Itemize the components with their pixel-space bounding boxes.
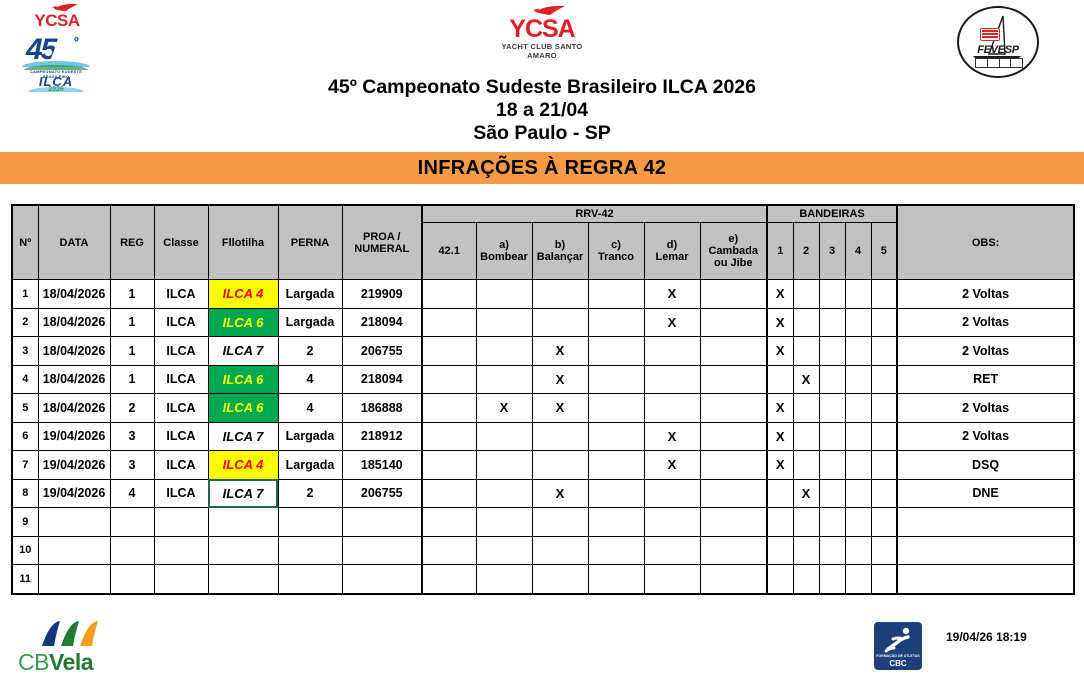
cell-rrv-tranco[interactable] bbox=[588, 280, 644, 309]
cell-rrv-tranco[interactable] bbox=[588, 365, 644, 394]
col-header-cambada-line2: Cambada bbox=[701, 245, 767, 257]
cell-rrv-lemar[interactable]: X bbox=[644, 422, 700, 451]
cell-rrv-42-1[interactable] bbox=[422, 365, 476, 394]
table-row[interactable]: 118/04/20261ILCAILCA 4Largada219909XX2 V… bbox=[12, 280, 1074, 309]
cell-bandeira-5[interactable] bbox=[871, 479, 897, 508]
cell-reg[interactable]: 2 bbox=[110, 394, 154, 423]
footer: CBVela FORMAÇÃO DE ATLETAS CBC 19/04/26 … bbox=[0, 612, 1084, 686]
cell-flotilha[interactable] bbox=[208, 536, 278, 565]
cell-bandeira-1[interactable]: X bbox=[767, 451, 793, 480]
cell-rrv-bombear[interactable] bbox=[476, 308, 532, 337]
cell-bandeira-1[interactable] bbox=[767, 365, 793, 394]
col-header-cambada-line1: e) bbox=[701, 233, 767, 245]
cell-rrv-cambada-jibe[interactable] bbox=[700, 536, 767, 565]
cell-reg[interactable]: 1 bbox=[110, 280, 154, 309]
cell-bandeira-5[interactable] bbox=[871, 565, 897, 594]
cell-rrv-bombear[interactable] bbox=[476, 508, 532, 537]
table-row[interactable]: 518/04/20262ILCAILCA 64186888XXX2 Voltas bbox=[12, 394, 1074, 423]
cell-bandeira-4[interactable] bbox=[845, 536, 871, 565]
cell-rrv-tranco[interactable] bbox=[588, 536, 644, 565]
cell-obs[interactable]: 2 Voltas bbox=[897, 337, 1074, 366]
cell-perna[interactable]: Largada bbox=[278, 280, 342, 309]
cell-data[interactable]: 18/04/2026 bbox=[38, 365, 110, 394]
table-row[interactable]: 218/04/20261ILCAILCA 6Largada218094XX2 V… bbox=[12, 308, 1074, 337]
cell-flotilha[interactable]: ILCA 4 bbox=[208, 280, 278, 309]
cell-rrv-balancar[interactable]: X bbox=[532, 365, 588, 394]
cell-rrv-lemar[interactable]: X bbox=[644, 280, 700, 309]
event-title-line-1: 45º Campeonato Sudeste Brasileiro ILCA 2… bbox=[0, 76, 1084, 99]
cell-obs[interactable] bbox=[897, 508, 1074, 537]
generated-timestamp: 19/04/26 18:19 bbox=[946, 630, 1027, 644]
table-row[interactable]: 719/04/20263ILCAILCA 4Largada185140XXDSQ bbox=[12, 451, 1074, 480]
cell-rrv-cambada-jibe[interactable] bbox=[700, 337, 767, 366]
table-row[interactable]: 418/04/20261ILCAILCA 64218094XXRET bbox=[12, 365, 1074, 394]
col-header-bandeira-5: 5 bbox=[871, 223, 897, 280]
cell-numero[interactable]: 2 bbox=[12, 308, 38, 337]
cell-bandeira-4[interactable] bbox=[845, 308, 871, 337]
col-header-balancar-line1: b) bbox=[533, 239, 588, 251]
cell-bandeira-2[interactable] bbox=[793, 337, 819, 366]
col-header-bandeira-1: 1 bbox=[767, 223, 793, 280]
cell-bandeira-2[interactable] bbox=[793, 308, 819, 337]
group-header-bandeiras: BANDEIRAS bbox=[767, 205, 897, 223]
cell-rrv-42-1[interactable] bbox=[422, 479, 476, 508]
event-title-block: 45º Campeonato Sudeste Brasileiro ILCA 2… bbox=[0, 76, 1084, 145]
cell-rrv-tranco[interactable] bbox=[588, 308, 644, 337]
cell-bandeira-4[interactable] bbox=[845, 451, 871, 480]
cell-flotilha[interactable]: ILCA 6 bbox=[208, 365, 278, 394]
col-header-reg: REG bbox=[110, 205, 154, 280]
event-title-line-2: 18 a 21/04 bbox=[0, 99, 1084, 122]
cell-bandeira-3[interactable] bbox=[819, 308, 845, 337]
table-row[interactable]: 9 bbox=[12, 508, 1074, 537]
table-row[interactable]: 11 bbox=[12, 565, 1074, 594]
cell-reg[interactable]: 1 bbox=[110, 308, 154, 337]
cell-bandeira-2[interactable] bbox=[793, 508, 819, 537]
cell-data[interactable]: 18/04/2026 bbox=[38, 308, 110, 337]
cell-rrv-tranco[interactable] bbox=[588, 337, 644, 366]
cell-bandeira-5[interactable] bbox=[871, 365, 897, 394]
cell-obs[interactable] bbox=[897, 536, 1074, 565]
cell-bandeira-1[interactable]: X bbox=[767, 394, 793, 423]
cell-flotilha[interactable]: ILCA 7 bbox=[208, 422, 278, 451]
cell-rrv-cambada-jibe[interactable] bbox=[700, 308, 767, 337]
col-header-cambada-line3: ou Jibe bbox=[701, 257, 767, 269]
cell-bandeira-4[interactable] bbox=[845, 422, 871, 451]
cell-obs[interactable]: DSQ bbox=[897, 451, 1074, 480]
cell-rrv-42-1[interactable] bbox=[422, 422, 476, 451]
cell-obs[interactable]: 2 Voltas bbox=[897, 308, 1074, 337]
cell-rrv-42-1[interactable] bbox=[422, 565, 476, 594]
cell-data[interactable]: 19/04/2026 bbox=[38, 451, 110, 480]
cell-rrv-tranco[interactable] bbox=[588, 565, 644, 594]
cell-flotilha[interactable]: ILCA 7 bbox=[208, 479, 278, 508]
col-header-balancar: b) Balançar bbox=[532, 223, 588, 280]
table-body: 118/04/20261ILCAILCA 4Largada219909XX2 V… bbox=[12, 280, 1074, 594]
cell-classe[interactable] bbox=[154, 565, 208, 594]
cell-perna[interactable]: Largada bbox=[278, 422, 342, 451]
cell-bandeira-3[interactable] bbox=[819, 565, 845, 594]
cell-flotilha[interactable] bbox=[208, 508, 278, 537]
cell-rrv-bombear[interactable]: X bbox=[476, 394, 532, 423]
col-header-balancar-line2: Balançar bbox=[533, 251, 588, 263]
ycsa-logo-center: YCSA YACHT CLUB SANTO AMARO bbox=[489, 2, 595, 57]
cell-rrv-42-1[interactable] bbox=[422, 337, 476, 366]
cell-data[interactable]: 18/04/2026 bbox=[38, 337, 110, 366]
cbvela-logo: CBVela bbox=[18, 620, 114, 678]
cell-bandeira-1[interactable] bbox=[767, 565, 793, 594]
cell-bandeira-3[interactable] bbox=[819, 422, 845, 451]
emblem-degree: º bbox=[74, 34, 79, 49]
col-header-perna: PERNA bbox=[278, 205, 342, 280]
cell-proa-numeral[interactable] bbox=[342, 508, 422, 537]
cell-obs[interactable]: DNE bbox=[897, 479, 1074, 508]
cell-rrv-tranco[interactable] bbox=[588, 451, 644, 480]
cell-numero[interactable]: 5 bbox=[12, 394, 38, 423]
cell-bandeira-3[interactable] bbox=[819, 479, 845, 508]
table-row[interactable]: 819/04/20264ILCAILCA 72206755XXDNE bbox=[12, 479, 1074, 508]
cbc-logo: FORMAÇÃO DE ATLETAS CBC bbox=[874, 622, 922, 670]
cell-rrv-lemar[interactable] bbox=[644, 365, 700, 394]
cell-bandeira-3[interactable] bbox=[819, 451, 845, 480]
cell-rrv-bombear[interactable] bbox=[476, 422, 532, 451]
cell-reg[interactable] bbox=[110, 536, 154, 565]
cell-perna[interactable] bbox=[278, 565, 342, 594]
cell-data[interactable] bbox=[38, 508, 110, 537]
table-head: Nº DATA REG Classe Fllotilha PERNA PROA … bbox=[12, 205, 1074, 280]
cell-rrv-bombear[interactable] bbox=[476, 451, 532, 480]
cell-rrv-balancar[interactable] bbox=[532, 536, 588, 565]
cell-bandeira-4[interactable] bbox=[845, 508, 871, 537]
cell-obs[interactable]: RET bbox=[897, 365, 1074, 394]
cell-proa-numeral[interactable]: 206755 bbox=[342, 479, 422, 508]
cell-bandeira-4[interactable] bbox=[845, 337, 871, 366]
cell-rrv-bombear[interactable] bbox=[476, 536, 532, 565]
cell-perna[interactable]: 4 bbox=[278, 365, 342, 394]
cell-rrv-42-1[interactable] bbox=[422, 536, 476, 565]
cell-rrv-bombear[interactable] bbox=[476, 280, 532, 309]
cell-classe[interactable] bbox=[154, 536, 208, 565]
cell-obs[interactable] bbox=[897, 565, 1074, 594]
cell-flotilha[interactable]: ILCA 7 bbox=[208, 337, 278, 366]
cell-perna[interactable]: Largada bbox=[278, 451, 342, 480]
header-logo-band: YCSA 45 º CAMPEONATO SUDESTE BRASILEIRO … bbox=[0, 0, 1084, 150]
cell-obs[interactable]: 2 Voltas bbox=[897, 280, 1074, 309]
cell-bandeira-1[interactable] bbox=[767, 536, 793, 565]
ycsa-logo-center-tagline: YACHT CLUB SANTO AMARO bbox=[489, 42, 595, 60]
cell-rrv-42-1[interactable] bbox=[422, 308, 476, 337]
cell-flotilha[interactable]: ILCA 4 bbox=[208, 451, 278, 480]
cell-reg[interactable]: 4 bbox=[110, 479, 154, 508]
cell-flotilha[interactable] bbox=[208, 565, 278, 594]
fevesp-signal-flags-icon bbox=[975, 58, 1023, 68]
infractions-table-wrap: Nº DATA REG Classe Fllotilha PERNA PROA … bbox=[11, 204, 1073, 595]
cell-proa-numeral[interactable] bbox=[342, 565, 422, 594]
cell-classe[interactable]: ILCA bbox=[154, 394, 208, 423]
cell-bandeira-1[interactable]: X bbox=[767, 280, 793, 309]
cell-classe[interactable]: ILCA bbox=[154, 280, 208, 309]
cell-reg[interactable]: 1 bbox=[110, 365, 154, 394]
cell-bandeira-4[interactable] bbox=[845, 394, 871, 423]
cbvela-logo-text: CBVela bbox=[18, 649, 118, 676]
table-row[interactable]: 10 bbox=[12, 536, 1074, 565]
cell-flotilha[interactable]: ILCA 6 bbox=[208, 308, 278, 337]
cell-classe[interactable]: ILCA bbox=[154, 337, 208, 366]
cell-rrv-balancar[interactable]: X bbox=[532, 337, 588, 366]
cell-bandeira-2[interactable] bbox=[793, 451, 819, 480]
cell-classe[interactable]: ILCA bbox=[154, 308, 208, 337]
cbc-caption: FORMAÇÃO DE ATLETAS bbox=[874, 654, 922, 658]
cell-bandeira-5[interactable] bbox=[871, 308, 897, 337]
cell-rrv-cambada-jibe[interactable] bbox=[700, 451, 767, 480]
cell-bandeira-2[interactable]: X bbox=[793, 479, 819, 508]
cell-numero[interactable]: 7 bbox=[12, 451, 38, 480]
table-row[interactable]: 619/04/20263ILCAILCA 7Largada218912XX2 V… bbox=[12, 422, 1074, 451]
cell-bandeira-1[interactable]: X bbox=[767, 308, 793, 337]
cell-rrv-lemar[interactable] bbox=[644, 479, 700, 508]
cell-classe[interactable]: ILCA bbox=[154, 479, 208, 508]
cell-classe[interactable]: ILCA bbox=[154, 422, 208, 451]
col-header-bombear-line2: Bombear bbox=[477, 251, 532, 263]
cell-perna[interactable]: 4 bbox=[278, 394, 342, 423]
cell-bandeira-4[interactable] bbox=[845, 479, 871, 508]
cell-perna[interactable]: Largada bbox=[278, 308, 342, 337]
cell-bandeira-2[interactable]: X bbox=[793, 365, 819, 394]
col-header-bandeira-2: 2 bbox=[793, 223, 819, 280]
cell-rrv-cambada-jibe[interactable] bbox=[700, 565, 767, 594]
cell-rrv-balancar[interactable] bbox=[532, 508, 588, 537]
cell-rrv-lemar[interactable] bbox=[644, 536, 700, 565]
cell-numero[interactable]: 8 bbox=[12, 479, 38, 508]
cbvela-vela: Vela bbox=[49, 649, 93, 675]
cell-rrv-lemar[interactable] bbox=[644, 337, 700, 366]
col-header-42-1: 42.1 bbox=[422, 223, 476, 280]
col-header-bombear: a) Bombear bbox=[476, 223, 532, 280]
ycsa-logo-center-text: YCSA bbox=[489, 15, 595, 44]
cell-obs[interactable]: 2 Voltas bbox=[897, 394, 1074, 423]
col-header-numero: Nº bbox=[12, 205, 38, 280]
cell-bandeira-5[interactable] bbox=[871, 508, 897, 537]
cell-perna[interactable]: 2 bbox=[278, 479, 342, 508]
cell-classe[interactable]: ILCA bbox=[154, 365, 208, 394]
cell-bandeira-2[interactable] bbox=[793, 394, 819, 423]
cell-rrv-bombear[interactable] bbox=[476, 365, 532, 394]
cell-rrv-bombear[interactable] bbox=[476, 337, 532, 366]
col-header-tranco: c) Tranco bbox=[588, 223, 644, 280]
cell-bandeira-4[interactable] bbox=[845, 565, 871, 594]
cell-rrv-balancar[interactable]: X bbox=[532, 479, 588, 508]
fevesp-flag-icon bbox=[980, 28, 1000, 41]
cell-bandeira-5[interactable] bbox=[871, 422, 897, 451]
col-header-obs: OBS: bbox=[897, 205, 1074, 280]
cell-reg[interactable] bbox=[110, 565, 154, 594]
cell-bandeira-5[interactable] bbox=[871, 280, 897, 309]
cell-data[interactable] bbox=[38, 565, 110, 594]
table-row[interactable]: 318/04/20261ILCAILCA 72206755XX2 Voltas bbox=[12, 337, 1074, 366]
col-header-proa-line2: NUMERAL bbox=[343, 243, 422, 255]
cell-proa-numeral[interactable]: 218912 bbox=[342, 422, 422, 451]
cell-proa-numeral[interactable]: 186888 bbox=[342, 394, 422, 423]
col-header-proa-numeral: PROA / NUMERAL bbox=[342, 205, 422, 280]
cell-numero[interactable]: 1 bbox=[12, 280, 38, 309]
col-header-lemar: d) Lemar bbox=[644, 223, 700, 280]
cell-reg[interactable]: 3 bbox=[110, 422, 154, 451]
cell-reg[interactable]: 1 bbox=[110, 337, 154, 366]
fevesp-logo: FEVESP bbox=[957, 6, 1039, 78]
cell-bandeira-2[interactable] bbox=[793, 536, 819, 565]
cell-proa-numeral[interactable]: 218094 bbox=[342, 365, 422, 394]
col-header-lemar-line2: Lemar bbox=[645, 251, 700, 263]
cell-rrv-42-1[interactable] bbox=[422, 508, 476, 537]
cell-rrv-balancar[interactable] bbox=[532, 280, 588, 309]
cell-proa-numeral[interactable] bbox=[342, 536, 422, 565]
cell-bandeira-2[interactable] bbox=[793, 565, 819, 594]
cell-data[interactable]: 18/04/2026 bbox=[38, 394, 110, 423]
cell-classe[interactable] bbox=[154, 508, 208, 537]
col-header-tranco-line2: Tranco bbox=[589, 251, 644, 263]
cell-bandeira-2[interactable] bbox=[793, 280, 819, 309]
cell-rrv-cambada-jibe[interactable] bbox=[700, 280, 767, 309]
cell-data[interactable]: 18/04/2026 bbox=[38, 280, 110, 309]
cell-bandeira-1[interactable]: X bbox=[767, 422, 793, 451]
cell-perna[interactable] bbox=[278, 536, 342, 565]
cell-obs[interactable]: 2 Voltas bbox=[897, 422, 1074, 451]
cell-bandeira-3[interactable] bbox=[819, 536, 845, 565]
cell-perna[interactable]: 2 bbox=[278, 337, 342, 366]
cell-rrv-cambada-jibe[interactable] bbox=[700, 479, 767, 508]
cell-numero[interactable]: 6 bbox=[12, 422, 38, 451]
col-header-classe: Classe bbox=[154, 205, 208, 280]
section-banner-text: INFRAÇÕES À REGRA 42 bbox=[418, 157, 667, 180]
col-header-proa-line1: PROA / bbox=[343, 231, 422, 243]
cell-numero[interactable]: 11 bbox=[12, 565, 38, 594]
cell-bandeira-1[interactable]: X bbox=[767, 337, 793, 366]
cell-numero[interactable]: 4 bbox=[12, 365, 38, 394]
cell-proa-numeral[interactable]: 185140 bbox=[342, 451, 422, 480]
cell-flotilha[interactable]: ILCA 6 bbox=[208, 394, 278, 423]
cell-rrv-lemar[interactable] bbox=[644, 565, 700, 594]
event-title-line-3: São Paulo - SP bbox=[0, 122, 1084, 145]
cbvela-cb: CB bbox=[18, 649, 49, 675]
group-header-rrv42: RRV-42 bbox=[422, 205, 767, 223]
cell-numero[interactable]: 10 bbox=[12, 536, 38, 565]
col-header-data: DATA bbox=[38, 205, 110, 280]
col-header-flotilha: Fllotilha bbox=[208, 205, 278, 280]
section-banner: INFRAÇÕES À REGRA 42 bbox=[0, 152, 1084, 184]
cell-rrv-42-1[interactable] bbox=[422, 394, 476, 423]
infractions-table: Nº DATA REG Classe Fllotilha PERNA PROA … bbox=[11, 204, 1075, 595]
cell-rrv-balancar[interactable]: X bbox=[532, 394, 588, 423]
ycsa-logo-topleft-text: YCSA bbox=[18, 11, 96, 31]
table-group-header-row: Nº DATA REG Classe Fllotilha PERNA PROA … bbox=[12, 205, 1074, 223]
cell-rrv-balancar[interactable] bbox=[532, 308, 588, 337]
cell-rrv-balancar[interactable] bbox=[532, 422, 588, 451]
fevesp-logo-text: FEVESP bbox=[959, 44, 1037, 56]
cell-bandeira-3[interactable] bbox=[819, 280, 845, 309]
col-header-lemar-line1: d) bbox=[645, 239, 700, 251]
col-header-bombear-line1: a) bbox=[477, 239, 532, 251]
cell-rrv-balancar[interactable] bbox=[532, 451, 588, 480]
cell-rrv-cambada-jibe[interactable] bbox=[700, 508, 767, 537]
cell-bandeira-5[interactable] bbox=[871, 536, 897, 565]
cell-rrv-cambada-jibe[interactable] bbox=[700, 365, 767, 394]
cell-bandeira-1[interactable] bbox=[767, 479, 793, 508]
cell-bandeira-4[interactable] bbox=[845, 280, 871, 309]
cell-classe[interactable]: ILCA bbox=[154, 451, 208, 480]
cell-numero[interactable]: 3 bbox=[12, 337, 38, 366]
cell-rrv-tranco[interactable] bbox=[588, 508, 644, 537]
cell-data[interactable] bbox=[38, 536, 110, 565]
col-header-tranco-line1: c) bbox=[589, 239, 644, 251]
cell-bandeira-3[interactable] bbox=[819, 508, 845, 537]
cell-rrv-tranco[interactable] bbox=[588, 394, 644, 423]
cell-proa-numeral[interactable]: 219909 bbox=[342, 280, 422, 309]
cell-rrv-42-1[interactable] bbox=[422, 280, 476, 309]
cell-rrv-bombear[interactable] bbox=[476, 565, 532, 594]
cell-proa-numeral[interactable]: 206755 bbox=[342, 337, 422, 366]
cell-reg[interactable]: 3 bbox=[110, 451, 154, 480]
cell-bandeira-5[interactable] bbox=[871, 337, 897, 366]
cell-data[interactable]: 19/04/2026 bbox=[38, 422, 110, 451]
col-header-cambada-jibe: e) Cambada ou Jibe bbox=[700, 223, 767, 280]
cbvela-sails-icon bbox=[40, 620, 102, 648]
cell-bandeira-2[interactable] bbox=[793, 422, 819, 451]
cell-bandeira-3[interactable] bbox=[819, 394, 845, 423]
cell-rrv-lemar[interactable]: X bbox=[644, 308, 700, 337]
cell-proa-numeral[interactable]: 218094 bbox=[342, 308, 422, 337]
cell-data[interactable]: 19/04/2026 bbox=[38, 479, 110, 508]
cell-reg[interactable] bbox=[110, 508, 154, 537]
cell-rrv-42-1[interactable] bbox=[422, 451, 476, 480]
emblem-sail-icon bbox=[50, 35, 60, 61]
cell-rrv-cambada-jibe[interactable] bbox=[700, 394, 767, 423]
cbc-acronym: CBC bbox=[874, 659, 922, 668]
cell-rrv-tranco[interactable] bbox=[588, 479, 644, 508]
ycsa-logo-topleft: YCSA bbox=[18, 2, 96, 32]
cell-bandeira-5[interactable] bbox=[871, 451, 897, 480]
cell-perna[interactable] bbox=[278, 508, 342, 537]
cell-bandeira-4[interactable] bbox=[845, 365, 871, 394]
cell-bandeira-5[interactable] bbox=[871, 394, 897, 423]
cell-bandeira-3[interactable] bbox=[819, 337, 845, 366]
col-header-bandeira-3: 3 bbox=[819, 223, 845, 280]
cell-rrv-bombear[interactable] bbox=[476, 479, 532, 508]
cell-rrv-tranco[interactable] bbox=[588, 422, 644, 451]
cell-rrv-balancar[interactable] bbox=[532, 565, 588, 594]
cell-rrv-lemar[interactable]: X bbox=[644, 451, 700, 480]
cell-bandeira-3[interactable] bbox=[819, 365, 845, 394]
cell-rrv-lemar[interactable] bbox=[644, 508, 700, 537]
col-header-bandeira-4: 4 bbox=[845, 223, 871, 280]
cell-bandeira-1[interactable] bbox=[767, 508, 793, 537]
cell-rrv-cambada-jibe[interactable] bbox=[700, 422, 767, 451]
cbc-athlete-icon bbox=[882, 627, 914, 653]
cell-rrv-lemar[interactable] bbox=[644, 394, 700, 423]
cell-numero[interactable]: 9 bbox=[12, 508, 38, 537]
